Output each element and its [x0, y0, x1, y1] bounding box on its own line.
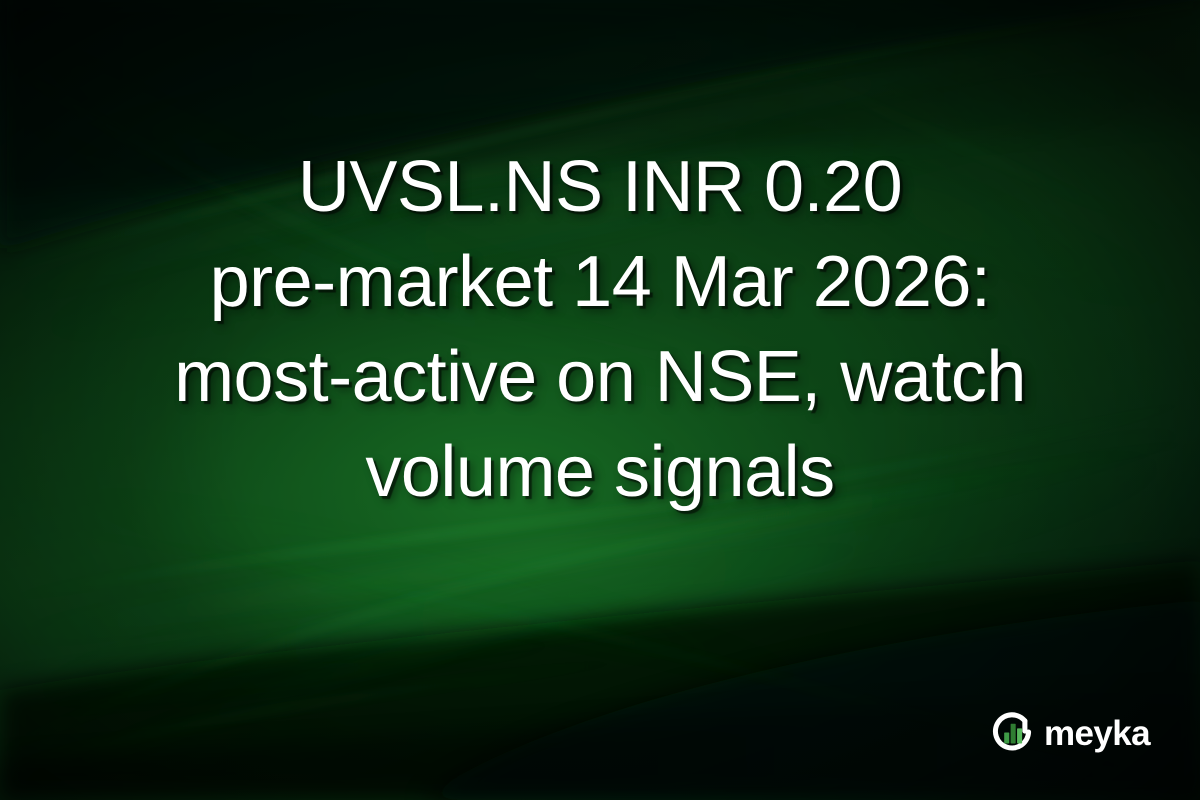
brand-name: meyka: [1044, 716, 1150, 751]
social-card-canvas: UVSL.NS INR 0.20 pre-market 14 Mar 2026:…: [0, 0, 1200, 800]
headline-text: UVSL.NS INR 0.20 pre-market 14 Mar 2026:…: [0, 140, 1200, 520]
circular-bar-chart-icon: [989, 709, 1035, 755]
brand-logo[interactable]: meyka: [989, 709, 1150, 755]
